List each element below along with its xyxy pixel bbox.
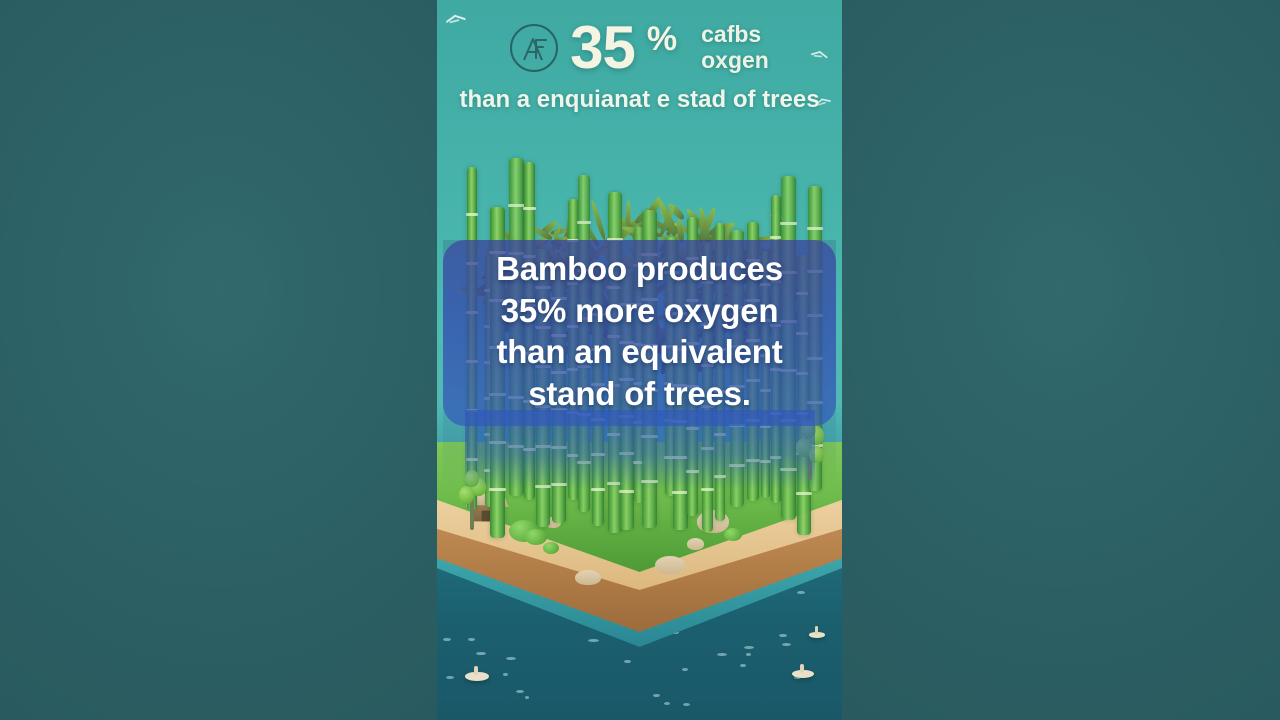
- header-stat-block: 35 % cafbs oxgen than a enquianat e stad…: [437, 0, 842, 130]
- bamboo-node: [508, 204, 525, 207]
- video-player: Bamboo produces 35% more oxygen than an …: [0, 0, 1280, 720]
- water-speck: [683, 703, 690, 706]
- stat-percent-sign: %: [647, 22, 677, 56]
- stat-word-line-2: oxgen: [701, 48, 769, 74]
- caption-line-4: stand of trees.: [447, 373, 832, 415]
- backdrop-shade-left: [0, 0, 437, 720]
- header-row: 35 % cafbs oxgen: [437, 12, 842, 84]
- letterbox-backdrop-left: [0, 0, 437, 720]
- header-subtitle: than a enquianat e stad of trees: [437, 86, 842, 114]
- stat-word-line-1: cafbs: [701, 22, 761, 48]
- water-speck: [525, 696, 529, 699]
- letterbox-backdrop-right: [842, 0, 1280, 720]
- bamboo-node: [577, 221, 591, 224]
- af-monogram-logo-icon: [510, 24, 558, 72]
- video-content[interactable]: Bamboo produces 35% more oxygen than an …: [437, 0, 842, 720]
- bamboo-node: [466, 213, 478, 216]
- water-speck: [653, 694, 660, 697]
- caption-text: Bamboo produces 35% more oxygen than an …: [437, 248, 842, 414]
- caption-line-3: than an equivalent: [447, 331, 832, 373]
- bamboo-node: [523, 207, 536, 210]
- stat-number: 35: [570, 18, 635, 78]
- bamboo-node: [770, 236, 782, 239]
- bamboo-node: [807, 227, 822, 230]
- bamboo-node: [796, 492, 812, 495]
- caption-box-fade: [465, 410, 815, 490]
- water-speck: [664, 702, 670, 705]
- stat-words: cafbs oxgen: [701, 22, 769, 74]
- caption-line-2: 35% more oxygen: [447, 290, 832, 332]
- caption-line-1: Bamboo produces: [447, 248, 832, 290]
- bamboo-node: [780, 222, 797, 225]
- backdrop-shade-right: [842, 0, 1280, 720]
